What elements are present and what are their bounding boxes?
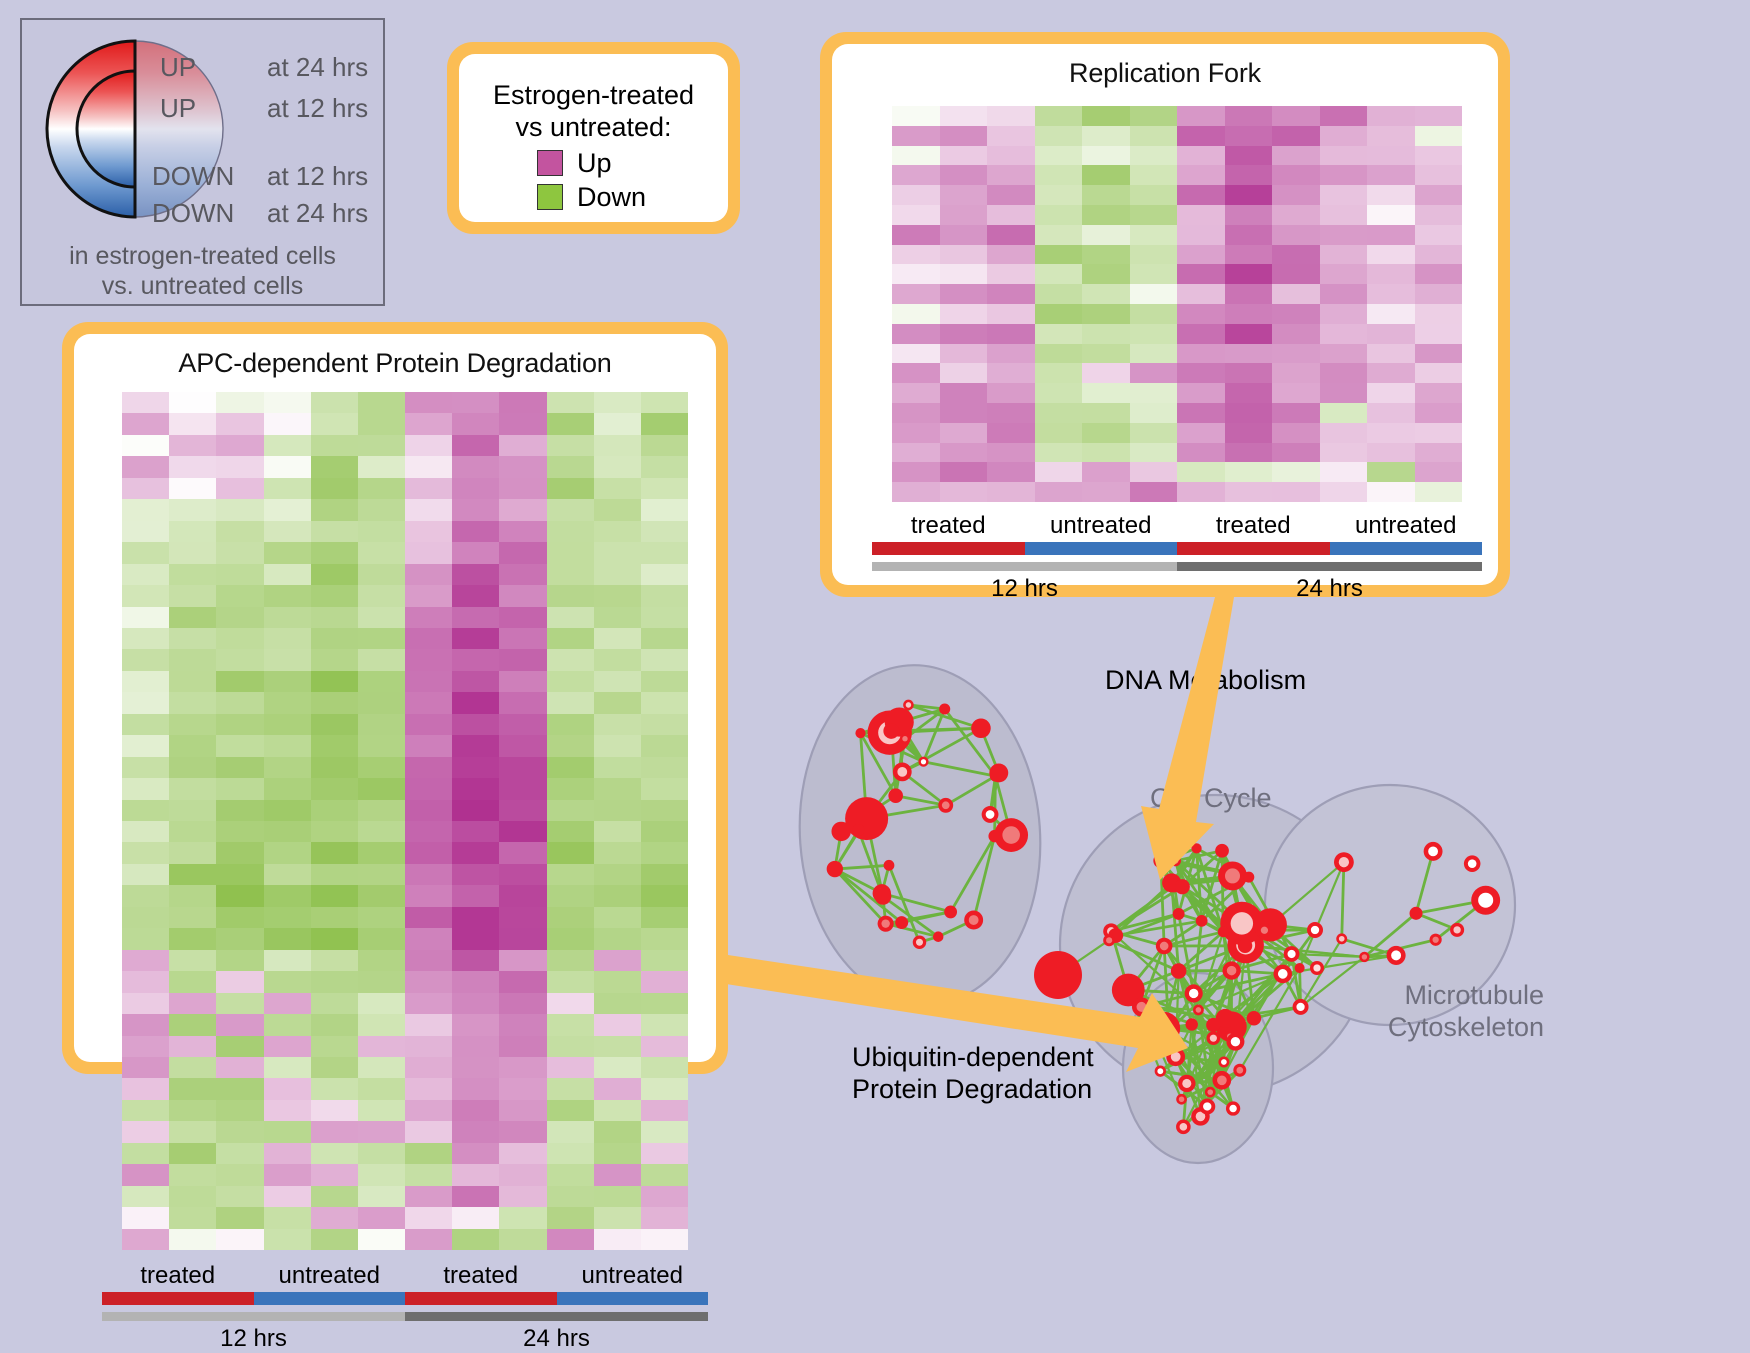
heatmap-cell [940, 225, 988, 245]
heatmap-cell [358, 757, 405, 778]
heatmap-cell [169, 671, 216, 692]
heatmap-cell [1082, 225, 1130, 245]
network-node [1218, 926, 1229, 937]
heatmap-cell [405, 542, 452, 563]
heatmap-cell [594, 1143, 641, 1164]
heatmap-cell [358, 800, 405, 821]
heatmap-cell [499, 1164, 546, 1185]
heatmap-cell [452, 499, 499, 520]
network-node [1175, 879, 1190, 894]
condition-label: untreated [557, 1262, 709, 1290]
condition-color-bar [872, 542, 1482, 555]
heatmap-cell [122, 1164, 169, 1185]
heatmap-cell [594, 1036, 641, 1057]
heatmap-cell [499, 757, 546, 778]
heatmap-cell [1225, 482, 1273, 502]
heatmap-cell [358, 435, 405, 456]
heatmap-cell [264, 971, 311, 992]
heatmap-cell [122, 757, 169, 778]
heatmap-cell [940, 185, 988, 205]
heatmap-cell [1320, 284, 1368, 304]
heatmap-cell [987, 324, 1035, 344]
heatmap-cell [594, 1207, 641, 1228]
heatmap-cell [452, 950, 499, 971]
heatmap-cell [641, 1143, 688, 1164]
heatmap-cell [264, 907, 311, 928]
heatmap-cell [1272, 324, 1320, 344]
key-label-down: Down [577, 182, 646, 213]
heatmap-cell [216, 649, 263, 670]
heatmap-cell [405, 778, 452, 799]
heatmap-cell [641, 757, 688, 778]
heatmap-cell [940, 165, 988, 185]
heatmap-cell [1035, 225, 1083, 245]
network-node [1171, 963, 1187, 979]
heatmap-cell [594, 499, 641, 520]
heatmap-cell [358, 1014, 405, 1035]
heatmap-cell [216, 1207, 263, 1228]
heatmap-cell [1272, 106, 1320, 126]
heatmap-cell [1272, 245, 1320, 265]
heatmap-cell [547, 971, 594, 992]
heatmap-cell [358, 1229, 405, 1250]
heatmap-cell [1367, 304, 1415, 324]
heatmap-cell [641, 1036, 688, 1057]
heatmap-cell [264, 714, 311, 735]
heatmap-cell [452, 542, 499, 563]
heatmap-cell [311, 1164, 358, 1185]
heatmap-cell [264, 928, 311, 949]
heatmap-cell [1130, 482, 1178, 502]
heatmap-cell [452, 1121, 499, 1142]
heatmap-cell [1082, 165, 1130, 185]
heatmap-cell [169, 1014, 216, 1035]
heatmap-cell [405, 692, 452, 713]
heatmap-cell [405, 800, 452, 821]
heatmap-cell [169, 842, 216, 863]
network-node [895, 916, 908, 929]
heatmap-cell [547, 649, 594, 670]
heatmap-cell [641, 499, 688, 520]
heatmap-cell [1415, 482, 1463, 502]
heatmap-cell [1415, 146, 1463, 166]
heatmap-cell [1320, 304, 1368, 324]
network-node [1471, 886, 1500, 915]
cluster-label-cell-cycle: Cell Cycle [1150, 783, 1272, 815]
heatmap-cell [216, 950, 263, 971]
heatmap-cell [1320, 165, 1368, 185]
heatmap-cell [452, 1229, 499, 1250]
heatmap-cell [358, 521, 405, 542]
heatmap-cell [1415, 264, 1463, 284]
heatmap-cell [987, 165, 1035, 185]
heatmap-cell [594, 735, 641, 756]
heatmap-cell [1415, 205, 1463, 225]
heatmap-cell [1415, 383, 1463, 403]
heatmap-cell [358, 1143, 405, 1164]
network-node [1233, 1064, 1246, 1077]
heatmap-cell [892, 462, 940, 482]
heatmap-cell [594, 671, 641, 692]
heatmap-cell [216, 1100, 263, 1121]
heatmap-cell [1320, 403, 1368, 423]
heatmap-cell [122, 1100, 169, 1121]
heatmap-cell [594, 521, 641, 542]
heatmap-cell [1225, 106, 1273, 126]
heatmap-cell [1272, 205, 1320, 225]
heatmap-cell [216, 1078, 263, 1099]
heatmap-cell [1035, 284, 1083, 304]
heatmap-cell [216, 521, 263, 542]
cluster-label-microtubule-cytoskeleton: Microtubule Cytoskeleton [1384, 980, 1544, 1044]
heatmap-cell [1415, 245, 1463, 265]
heatmap-cell [452, 800, 499, 821]
heatmap-cell [1272, 482, 1320, 502]
heatmap-cell [892, 304, 940, 324]
heatmap-cell [892, 443, 940, 463]
heatmap-cell [499, 1057, 546, 1078]
heatmap-cell [499, 1229, 546, 1250]
heatmap-cell [169, 521, 216, 542]
legend-time-up-24: at 24 hrs [267, 54, 368, 80]
heatmap-cell [311, 499, 358, 520]
heatmap-cell [547, 1014, 594, 1035]
heatmap-cell [452, 628, 499, 649]
heatmap-cell [169, 585, 216, 606]
heatmap-cell [499, 607, 546, 628]
heatmap-cell [1272, 403, 1320, 423]
heatmap-cell [405, 1078, 452, 1099]
heatmap-cell [452, 842, 499, 863]
heatmap-cell [405, 499, 452, 520]
network-node [1207, 1031, 1221, 1045]
heatmap-cell [547, 1100, 594, 1121]
heatmap-cell [405, 1100, 452, 1121]
heatmap-cell [1082, 284, 1130, 304]
heatmap-cell [358, 1036, 405, 1057]
heatmap-cell [594, 1121, 641, 1142]
heatmap-cell [547, 907, 594, 928]
network-node [845, 797, 888, 840]
heatmap-cell [216, 413, 263, 434]
heatmap-cell [1272, 304, 1320, 324]
heatmap-cell [452, 435, 499, 456]
heatmap-cell [1225, 383, 1273, 403]
heatmap-cell [1177, 106, 1225, 126]
heatmap-cell [1035, 423, 1083, 443]
heatmap-cell [216, 714, 263, 735]
heatmap-cell [169, 1229, 216, 1250]
heatmap-cell [1225, 324, 1273, 344]
heatmap-cell [1130, 284, 1178, 304]
heatmap-cell [1082, 383, 1130, 403]
heatmap-cell [987, 482, 1035, 502]
heatmap-cell [216, 821, 263, 842]
heatmap-cell [216, 757, 263, 778]
heatmap-cell [216, 456, 263, 477]
heatmap-cell [358, 649, 405, 670]
heatmap-cell [216, 1121, 263, 1142]
heatmap-cell [641, 821, 688, 842]
heatmap-cell [311, 413, 358, 434]
time-bar-segment [1177, 562, 1482, 571]
heatmap-cell [940, 324, 988, 344]
heatmap-cell [594, 478, 641, 499]
heatmap-cell [264, 1036, 311, 1057]
heatmap-cell [547, 564, 594, 585]
heatmap-cell [547, 1078, 594, 1099]
network-node [855, 728, 865, 738]
heatmap-cell [1177, 185, 1225, 205]
heatmap-cell [169, 413, 216, 434]
network-node [883, 723, 899, 739]
heatmap-cell [641, 435, 688, 456]
network-node [1185, 984, 1203, 1002]
heatmap-cell [311, 993, 358, 1014]
heatmap-cell [987, 264, 1035, 284]
heatmap-cell [499, 885, 546, 906]
heatmap-cell [547, 392, 594, 413]
heatmap-cell [1225, 165, 1273, 185]
heatmap-cell [452, 1207, 499, 1228]
heatmap-cell [169, 435, 216, 456]
heatmap-cell [169, 1121, 216, 1142]
heatmap-cell [1415, 462, 1463, 482]
condition-bar-segment [1177, 542, 1330, 555]
heatmap-cell [641, 800, 688, 821]
heatmap-cell [264, 1229, 311, 1250]
heatmap-cell [405, 521, 452, 542]
heatmap-cell [122, 778, 169, 799]
heatmap-cell [122, 971, 169, 992]
heatmap-cell [892, 324, 940, 344]
network-node [888, 788, 903, 803]
heatmap-cell [264, 1164, 311, 1185]
heatmap-cell [358, 692, 405, 713]
heatmap-cell [122, 821, 169, 842]
heatmap-cell [264, 1078, 311, 1099]
heatmap-cell [452, 1036, 499, 1057]
heatmap-cell [594, 564, 641, 585]
heatmap-cell [641, 649, 688, 670]
heatmap-cell [405, 885, 452, 906]
estrogen-key-panel: Estrogen-treated vs untreated: Up Down [447, 42, 740, 234]
network-node [1216, 1009, 1235, 1028]
heatmap-cell [1082, 245, 1130, 265]
heatmap-cell [264, 435, 311, 456]
heatmap-cell [1130, 245, 1178, 265]
heatmap-cell [1225, 225, 1273, 245]
heatmap-cell [169, 542, 216, 563]
heatmap-cell [987, 423, 1035, 443]
heatmap-cell [1035, 106, 1083, 126]
heatmap-cell [216, 907, 263, 928]
network-node [988, 830, 1000, 842]
heatmap-cell [264, 800, 311, 821]
heatmap-cell [311, 1036, 358, 1057]
heatmap-cell [405, 564, 452, 585]
heatmap-cell [216, 735, 263, 756]
heatmap-cell [1415, 363, 1463, 383]
heatmap-cell [1367, 106, 1415, 126]
heatmap-cell [405, 821, 452, 842]
heatmap-cell [1177, 264, 1225, 284]
heatmap-cell [216, 564, 263, 585]
heatmap-cell [311, 821, 358, 842]
network-node [933, 931, 944, 942]
heatmap-cell [169, 692, 216, 713]
heatmap-cell [499, 864, 546, 885]
time-color-bar [872, 562, 1482, 571]
heatmap-cell [311, 1121, 358, 1142]
legend-label-down-12: DOWN [152, 163, 234, 189]
heatmap-cell [1035, 344, 1083, 364]
heatmap-cell [499, 564, 546, 585]
heatmap-cell [547, 435, 594, 456]
network-node [1243, 872, 1254, 883]
heatmap-cell [169, 1100, 216, 1121]
condition-label: treated [872, 512, 1025, 540]
legend-time-down-24: at 24 hrs [267, 200, 368, 226]
network-node [1155, 1066, 1166, 1077]
heatmap-cell [641, 1229, 688, 1250]
key-title-line1: Estrogen-treated [459, 80, 728, 112]
heatmap-cell [169, 1057, 216, 1078]
heatmap-cell [1320, 324, 1368, 344]
time-labels: 12 hrs24 hrs [872, 575, 1482, 603]
heatmap-cell [452, 821, 499, 842]
network-node [1247, 1011, 1261, 1025]
heatmap-cell [1367, 324, 1415, 344]
heatmap-cell [940, 245, 988, 265]
heatmap-cell [264, 1100, 311, 1121]
heatmap-cell [405, 950, 452, 971]
heatmap-cell [311, 864, 358, 885]
heatmap-cell [405, 392, 452, 413]
heatmap-cell [641, 1186, 688, 1207]
heatmap-cell [547, 1229, 594, 1250]
heatmap-cell [1130, 344, 1178, 364]
heatmap-cell [641, 585, 688, 606]
heatmap-cell [358, 499, 405, 520]
heatmap-cell [1320, 443, 1368, 463]
apc-heatmap [122, 392, 688, 1250]
heatmap-cell [499, 928, 546, 949]
heatmap-cell [358, 714, 405, 735]
cluster-label-dna-metabolism: DNA Metabolism [1105, 665, 1306, 697]
heatmap-cell [1082, 462, 1130, 482]
heatmap-cell [641, 564, 688, 585]
heatmap-cell [1415, 106, 1463, 126]
heatmap-cell [1035, 443, 1083, 463]
network-node [884, 860, 895, 871]
heatmap-cell [264, 456, 311, 477]
condition-color-bar [102, 1292, 708, 1305]
heatmap-cell [641, 478, 688, 499]
heatmap-cell [594, 842, 641, 863]
heatmap-cell [1320, 423, 1368, 443]
heatmap-cell [405, 971, 452, 992]
time-bar-segment [872, 562, 1177, 571]
heatmap-cell [169, 1078, 216, 1099]
heatmap-cell [1225, 423, 1273, 443]
heatmap-cell [499, 735, 546, 756]
condition-label: treated [1177, 512, 1330, 540]
heatmap-cell [1177, 462, 1225, 482]
heatmap-cell [1130, 264, 1178, 284]
heatmap-cell [547, 478, 594, 499]
heatmap-cell [892, 403, 940, 423]
time-label: 12 hrs [102, 1325, 405, 1353]
heatmap-cell [358, 907, 405, 928]
heatmap-cell [264, 478, 311, 499]
heatmap-cell [452, 993, 499, 1014]
heatmap-cell [1272, 443, 1320, 463]
network-node [1424, 842, 1443, 861]
heatmap-cell [1130, 443, 1178, 463]
heatmap-cell [452, 757, 499, 778]
heatmap-cell [169, 821, 216, 842]
heatmap-cell [405, 907, 452, 928]
heatmap-cell [311, 628, 358, 649]
heatmap-cell [122, 607, 169, 628]
heatmap-cell [169, 928, 216, 949]
heatmap-cell [892, 225, 940, 245]
heatmap-cell [452, 778, 499, 799]
heatmap-cell [641, 392, 688, 413]
heatmap-cell [452, 671, 499, 692]
network-node [1163, 1025, 1175, 1037]
heatmap-cell [547, 800, 594, 821]
heatmap-cell [940, 126, 988, 146]
heatmap-cell [594, 1100, 641, 1121]
heatmap-cell [499, 649, 546, 670]
heatmap-cell [405, 735, 452, 756]
heatmap-cell [358, 413, 405, 434]
legend-caption: in estrogen-treated cells vs. untreated … [22, 242, 383, 301]
heatmap-cell [264, 1143, 311, 1164]
heatmap-cell [264, 671, 311, 692]
heatmap-cell [892, 344, 940, 364]
heatmap-cell [311, 456, 358, 477]
heatmap-cell [499, 692, 546, 713]
heatmap-cell [1367, 403, 1415, 423]
heatmap-cell [499, 1036, 546, 1057]
heatmap-cell [216, 800, 263, 821]
heatmap-cell [1082, 403, 1130, 423]
heatmap-cell [641, 1057, 688, 1078]
heatmap-cell [405, 757, 452, 778]
heatmap-cell [122, 392, 169, 413]
heatmap-cell [1177, 146, 1225, 166]
up-color-swatch [537, 150, 563, 176]
heatmap-cell [594, 714, 641, 735]
heatmap-cell [1130, 126, 1178, 146]
heatmap-cell [169, 1164, 216, 1185]
heatmap-cell [1130, 146, 1178, 166]
heatmap-cell [311, 928, 358, 949]
heatmap-cell [1130, 403, 1178, 423]
heatmap-cell [1272, 126, 1320, 146]
heatmap-cell [987, 443, 1035, 463]
colorscale-legend-box: UP at 24 hrs UP at 12 hrs DOWN at 12 hrs… [20, 18, 385, 306]
heatmap-cell [122, 1207, 169, 1228]
heatmap-cell [1035, 462, 1083, 482]
heatmap-cell [892, 383, 940, 403]
heatmap-cell [122, 413, 169, 434]
network-node [989, 763, 1008, 782]
heatmap-cell [311, 1229, 358, 1250]
